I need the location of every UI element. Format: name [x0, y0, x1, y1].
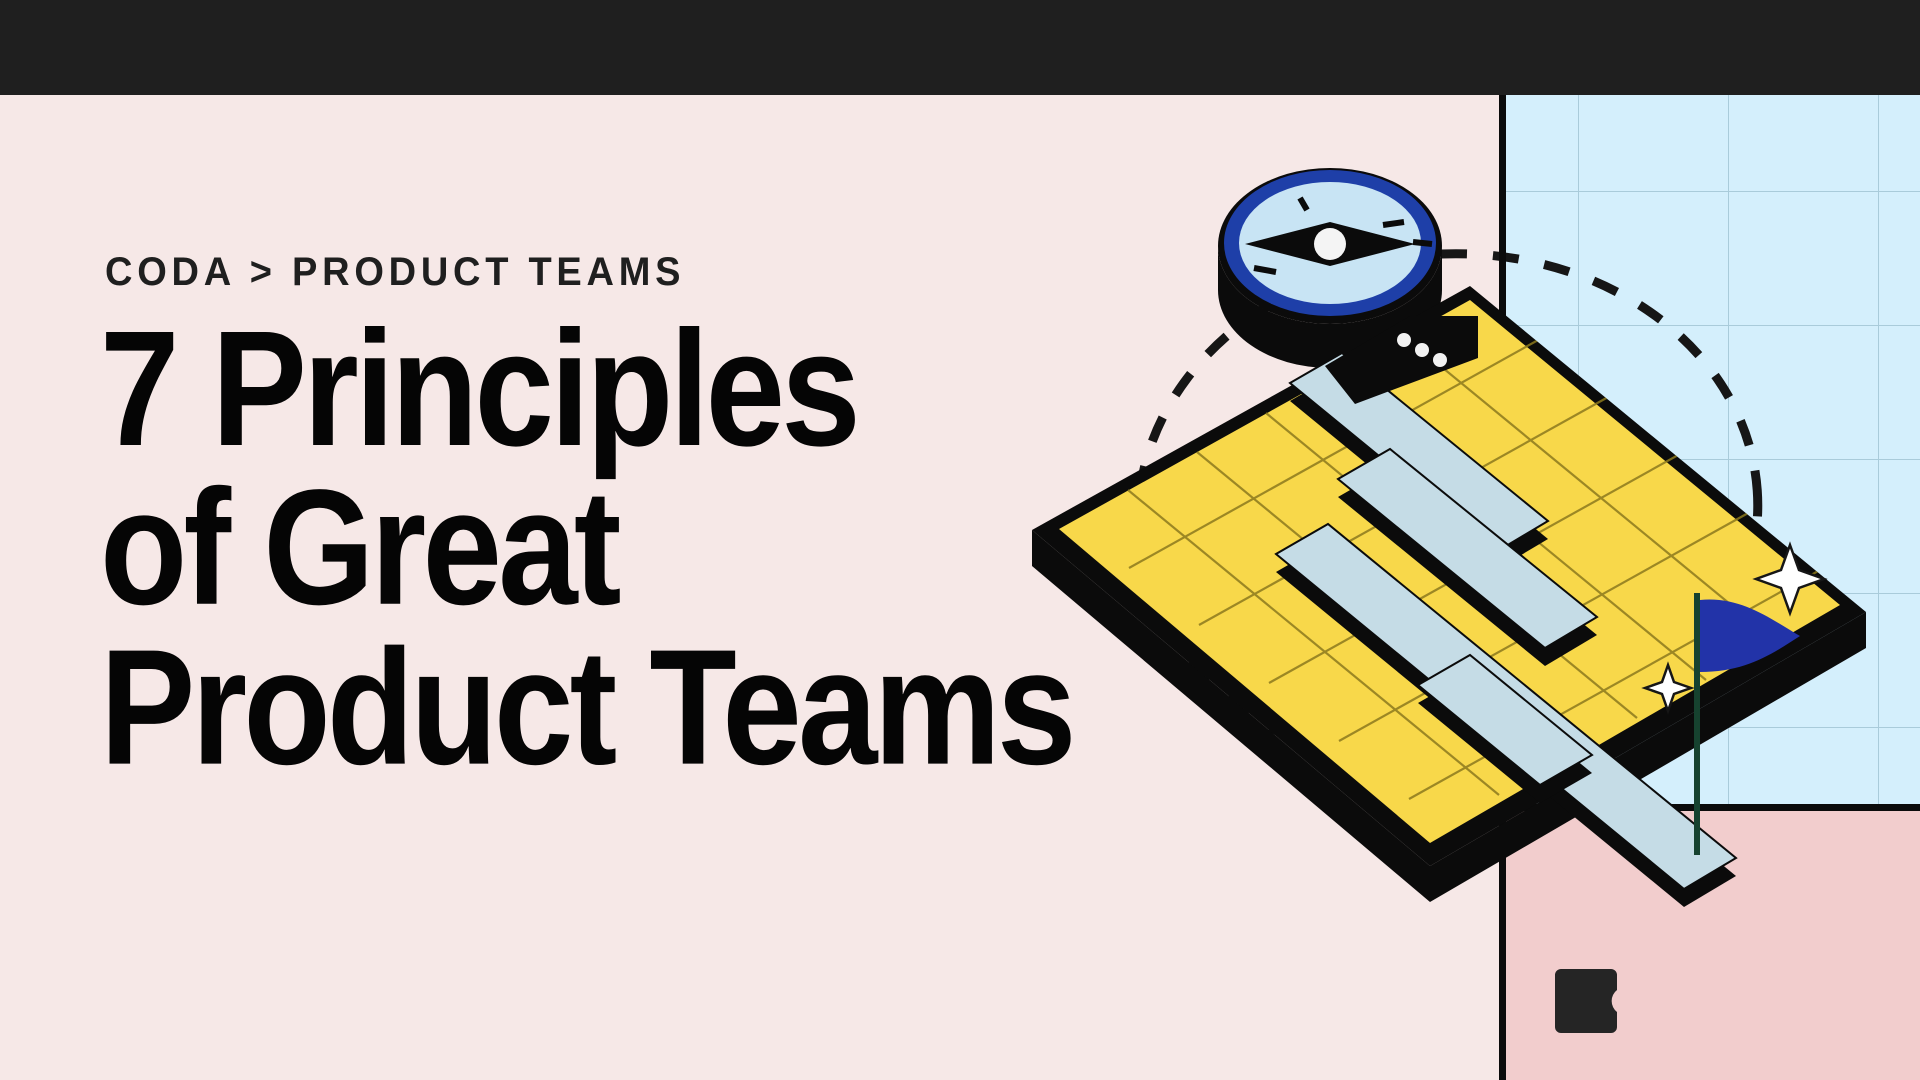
breadcrumb: CODA > PRODUCT TEAMS — [105, 250, 685, 295]
page-title-line-1: 7 Principles — [100, 310, 1073, 469]
page-title-line-2: of Great — [100, 469, 1073, 628]
page-title-line-3: Product Teams — [100, 628, 1073, 787]
coda-logo-icon — [1553, 965, 1625, 1037]
page-title: 7 Principles of Great Product Teams — [100, 310, 1073, 788]
top-bar — [0, 0, 1920, 95]
poster-canvas: CODA > PRODUCT TEAMS 7 Principles of Gre… — [0, 0, 1920, 1080]
